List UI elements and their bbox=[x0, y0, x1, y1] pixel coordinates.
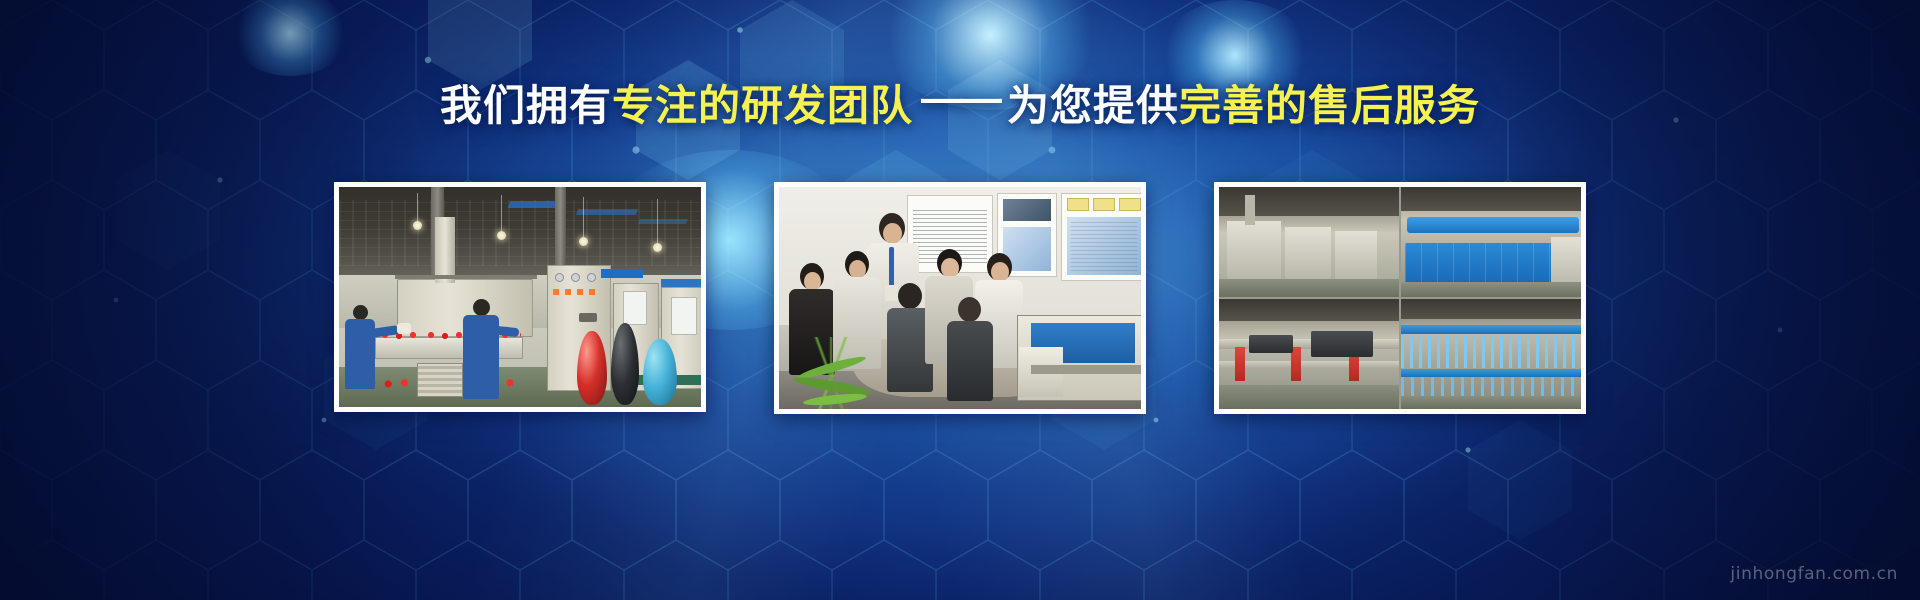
lamp-wire bbox=[657, 199, 658, 245]
ceiling-lamp bbox=[653, 243, 662, 252]
worker-body bbox=[463, 315, 499, 399]
lamp-wire bbox=[417, 193, 418, 223]
person-lanyard bbox=[889, 247, 894, 287]
machinery-part bbox=[1311, 331, 1373, 357]
person-head bbox=[958, 297, 981, 322]
cabinet-blue-label bbox=[601, 269, 643, 278]
workshop-roof bbox=[1401, 187, 1581, 211]
headline-segment-3: 为您提供 bbox=[1007, 82, 1179, 129]
poster-text-lines bbox=[1071, 221, 1137, 271]
photo-gallery-row bbox=[0, 182, 1920, 414]
ceiling-lamp bbox=[579, 237, 588, 246]
oven-chimney bbox=[1245, 195, 1255, 225]
cabinet-logo bbox=[579, 313, 597, 322]
collage-cell-conveyor bbox=[1219, 299, 1399, 409]
product-vase-blue bbox=[643, 339, 677, 405]
ceiling-lamp bbox=[497, 231, 506, 240]
floor-strip bbox=[1219, 385, 1399, 409]
worker-head bbox=[353, 305, 368, 320]
poster-highlight-box bbox=[1067, 198, 1089, 211]
oven-cabinet bbox=[1285, 227, 1331, 283]
workshop-roof bbox=[1219, 299, 1399, 321]
worker-glove bbox=[397, 323, 411, 334]
oven-cabinet bbox=[1335, 231, 1377, 283]
floor-strip bbox=[1401, 282, 1581, 297]
poster-highlight-box bbox=[1093, 198, 1115, 211]
conveyor-rail bbox=[1219, 361, 1399, 369]
poster-photo bbox=[1003, 199, 1051, 221]
hero-banner: 我们拥有专注的研发团队——为您提供完善的售后服务 bbox=[0, 0, 1920, 600]
person-head bbox=[898, 283, 922, 309]
collage-cell-oven bbox=[1219, 187, 1399, 297]
cabinet-dial bbox=[555, 273, 564, 282]
cabinet-indicator-lights bbox=[553, 289, 595, 295]
banner-headline: 我们拥有专注的研发团队——为您提供完善的售后服务 bbox=[0, 80, 1920, 132]
product-vase-dark bbox=[611, 323, 639, 405]
hanger-teeth-row bbox=[1401, 334, 1581, 368]
oven-cabinet bbox=[1227, 221, 1281, 283]
workshop-roof bbox=[1401, 299, 1581, 319]
person-face bbox=[941, 258, 959, 278]
hanger-rail-blue bbox=[1401, 369, 1581, 377]
floor-strip bbox=[1401, 396, 1581, 409]
floor-strip bbox=[1219, 279, 1399, 297]
equipment-notice-card bbox=[623, 291, 647, 325]
site-watermark: jinhongfan.com.cn bbox=[1730, 564, 1898, 584]
lamp-wire bbox=[583, 197, 584, 239]
equipment-notice-card bbox=[671, 297, 697, 335]
lamp-wire bbox=[501, 195, 502, 233]
skylight bbox=[576, 209, 638, 215]
photo-card-equipment-collage[interactable] bbox=[1214, 182, 1586, 414]
poster-highlight-box bbox=[1119, 198, 1141, 211]
worker-head bbox=[473, 299, 490, 316]
headline-segment-2: 专注的研发团队 bbox=[612, 82, 913, 129]
plastic-crate bbox=[417, 363, 463, 397]
person-torso bbox=[947, 321, 993, 401]
collage-cell-blue-duct bbox=[1401, 187, 1581, 297]
person-seated bbox=[947, 297, 993, 405]
headline-dash: —— bbox=[913, 72, 1007, 124]
machine-blue-trim bbox=[661, 279, 701, 287]
oven-chimney bbox=[435, 217, 455, 283]
equipment-conveyor bbox=[1031, 365, 1141, 374]
hanger-rail-blue bbox=[1401, 325, 1581, 334]
photo-card-team-meeting[interactable] bbox=[774, 182, 1146, 414]
photo-production-line bbox=[339, 187, 701, 407]
roof-truss bbox=[339, 200, 701, 266]
machinery-part bbox=[1249, 335, 1293, 353]
photo-equipment-collage bbox=[1219, 187, 1581, 409]
photo-card-production-line[interactable] bbox=[334, 182, 706, 412]
skylight bbox=[638, 219, 688, 224]
red-frame-part bbox=[1235, 347, 1245, 381]
cabinet-dial bbox=[571, 273, 580, 282]
person-face bbox=[883, 223, 902, 244]
photo-team-meeting bbox=[779, 187, 1141, 409]
product-vase-red bbox=[577, 331, 607, 405]
headline-segment-1: 我们拥有 bbox=[440, 82, 612, 129]
oven-frame-bar bbox=[395, 275, 537, 279]
headline-segment-4: 完善的售后服务 bbox=[1179, 82, 1480, 129]
blue-duct-line bbox=[1407, 217, 1579, 233]
cabinet-dial bbox=[587, 273, 596, 282]
person-face bbox=[991, 262, 1009, 282]
collage-cell-hanger-line bbox=[1401, 299, 1581, 409]
ceiling-lamp bbox=[413, 221, 422, 230]
